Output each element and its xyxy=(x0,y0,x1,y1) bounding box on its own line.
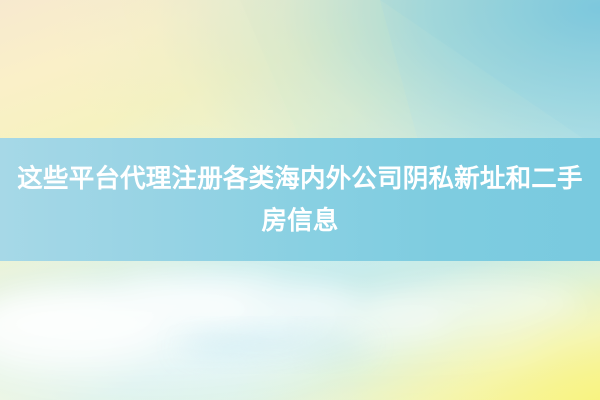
banner-image: 这些平台代理注册各类海内外公司阴私新址和二手房信息 xyxy=(0,0,600,400)
banner-title: 这些平台代理注册各类海内外公司阴私新址和二手房信息 xyxy=(11,158,589,242)
title-band: 这些平台代理注册各类海内外公司阴私新址和二手房信息 xyxy=(0,138,600,261)
